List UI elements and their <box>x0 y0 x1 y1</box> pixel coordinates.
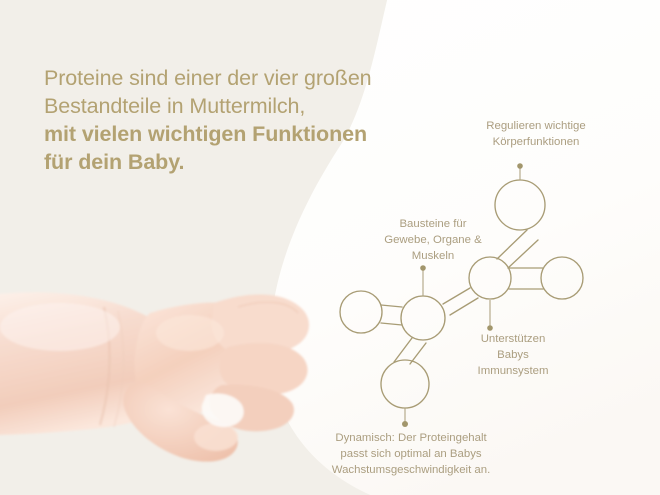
bond-hubs-edge-a <box>443 288 470 304</box>
headline-line-3: mit vielen wichtigen Funktionen <box>44 121 444 149</box>
infographic-canvas: Proteine sind einer der vier großen Best… <box>0 0 660 495</box>
callout-bausteine-gewebe-organe-muskeln: Bausteine für Gewebe, Organe & Muskeln <box>350 216 516 265</box>
headline-line-4: für dein Baby. <box>44 149 444 177</box>
callout-unterstuetzen-babys-immunsystem: Unterstützen Babys Immunsystem <box>438 331 588 380</box>
bond-hubleft-bottom-edge-a <box>394 338 412 362</box>
pin-dot-bausteine <box>420 265 426 271</box>
pin-dot-dynamisch <box>402 421 408 427</box>
pin-dot-immun <box>487 325 493 331</box>
callout-dynamisch-proteingehalt: Dynamisch: Der Proteingehalt passt sich … <box>296 430 526 479</box>
headline-line-2: Bestandteile in Muttermilch, <box>44 93 444 121</box>
pin-dot-koerper <box>517 163 523 169</box>
bond-hubleft-farleft-edge-b <box>381 323 402 325</box>
callout-regulieren-koerperfunktionen: Regulieren wichtige Körperfunktionen <box>436 118 636 150</box>
bond-hubleft-farleft-edge-a <box>381 305 402 307</box>
bond-hubs-edge-b <box>450 298 478 315</box>
node-bottom <box>381 360 429 408</box>
headline-line-1: Proteine sind einer der vier großen <box>44 65 444 93</box>
node-far-left <box>340 291 382 333</box>
node-right <box>541 257 583 299</box>
headline: Proteine sind einer der vier großen Best… <box>44 65 444 177</box>
